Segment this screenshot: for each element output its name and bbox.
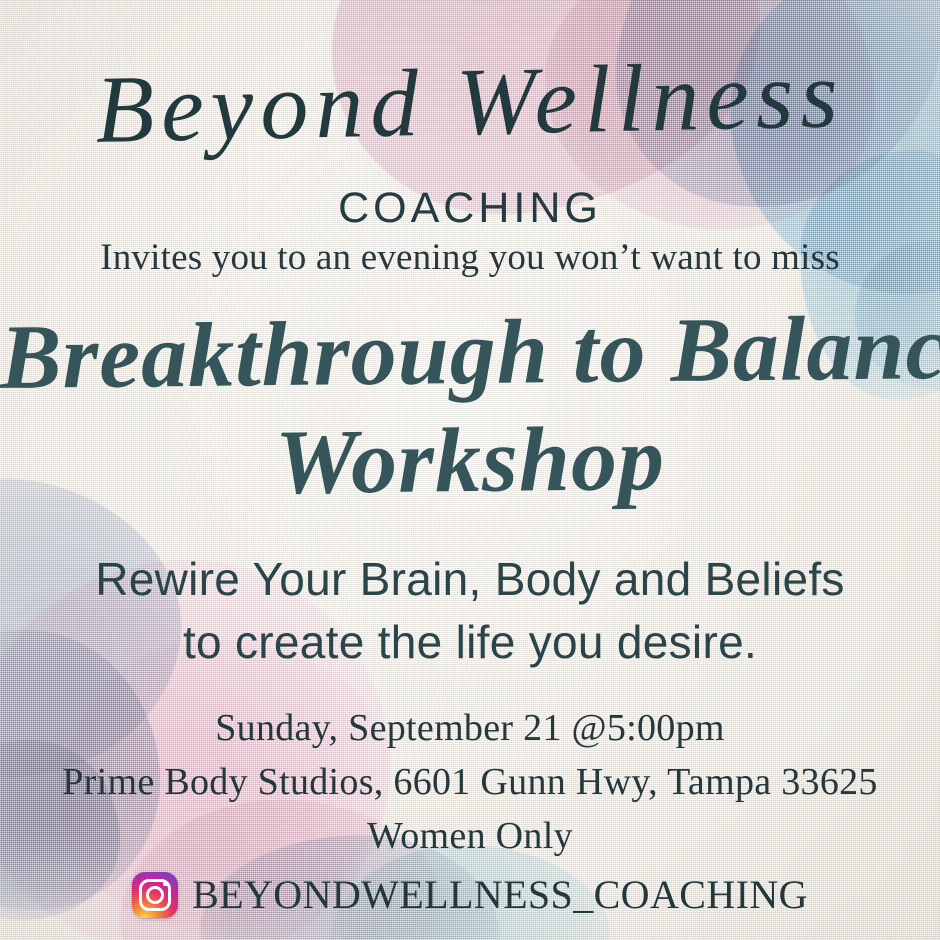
instagram-handle-text[interactable]: BEYONDWELLNESS_COACHING bbox=[192, 871, 808, 918]
event-title-line-2: Workshop bbox=[0, 409, 940, 511]
event-title: Breakthrough to Balance Workshop bbox=[0, 306, 940, 506]
flyer-content: Beyond Wellness COACHING Invites you to … bbox=[0, 0, 940, 940]
brand-subtitle: COACHING bbox=[0, 184, 940, 233]
instagram-icon-lens bbox=[146, 886, 164, 904]
brand-script-name: Beyond Wellness bbox=[0, 42, 940, 162]
invite-line: Invites you to an evening you won’t want… bbox=[0, 236, 940, 279]
event-title-line-1: Breakthrough to Balance bbox=[0, 301, 940, 403]
tagline: Rewire Your Brain, Body and Beliefs to c… bbox=[0, 548, 940, 675]
event-date-time: Sunday, September 21 @5:00pm bbox=[0, 702, 940, 756]
event-venue: Prime Body Studios, 6601 Gunn Hwy, Tampa… bbox=[0, 756, 940, 810]
tagline-line-1: Rewire Your Brain, Body and Beliefs bbox=[0, 548, 940, 611]
instagram-icon[interactable] bbox=[132, 872, 178, 918]
event-audience: Women Only bbox=[0, 810, 940, 864]
instagram-icon-dot bbox=[163, 882, 168, 887]
social-handle-row[interactable]: BEYONDWELLNESS_COACHING bbox=[0, 871, 940, 918]
tagline-line-2: to create the life you desire. bbox=[0, 611, 940, 674]
flyer-canvas: Beyond Wellness COACHING Invites you to … bbox=[0, 0, 940, 940]
event-details: Sunday, September 21 @5:00pm Prime Body … bbox=[0, 702, 940, 864]
